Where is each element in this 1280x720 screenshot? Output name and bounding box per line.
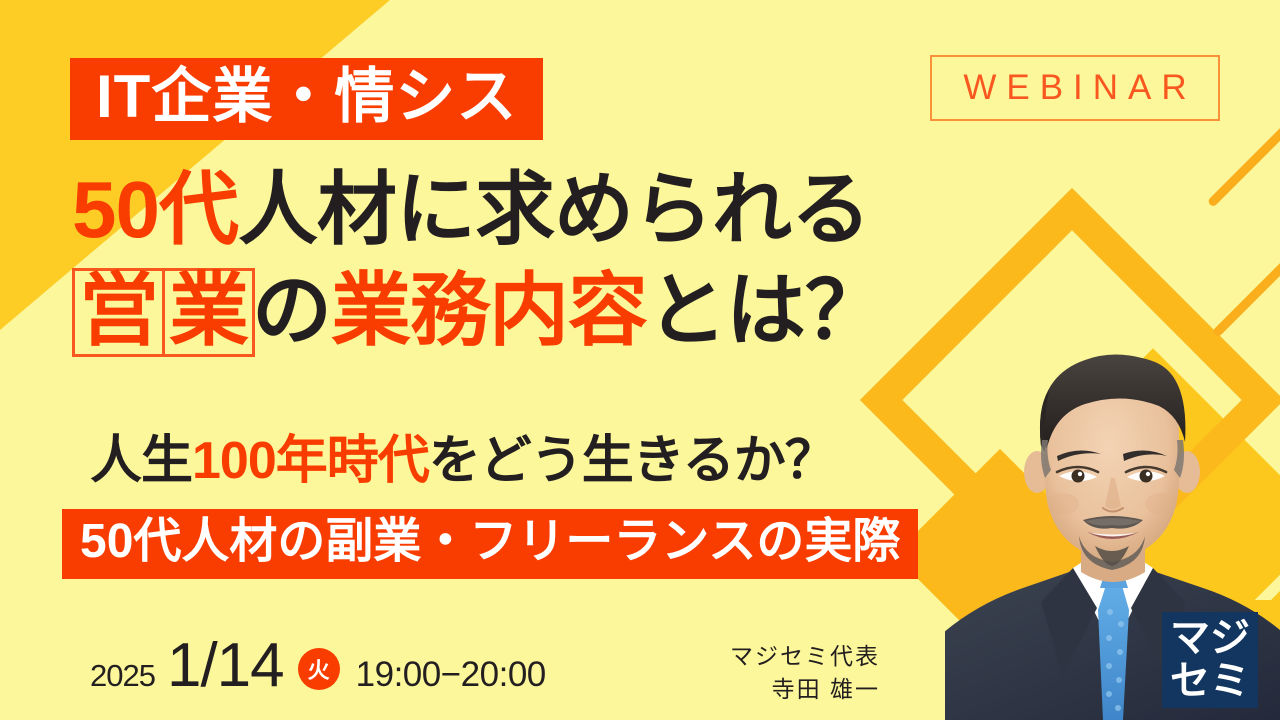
- highlight-bar: 50代人材の副業・フリーランスの実際: [62, 509, 918, 579]
- schedule-day-of-week-badge: 火: [298, 648, 340, 690]
- schedule-year: 2025: [90, 658, 155, 694]
- headline-line-1: 50代人材に求められる: [72, 170, 884, 250]
- majisemi-logo: マジ セミ: [1162, 612, 1258, 708]
- subtitle-part-2: をどう生きるか？: [429, 432, 836, 490]
- logo-line-1: マジ: [1170, 617, 1250, 660]
- subtitle: 人生100年時代をどう生きるか？: [90, 435, 836, 487]
- subtitle-part-1: 人生: [90, 432, 192, 490]
- speaker-name: 寺田 雄一: [640, 673, 880, 706]
- headline-line2-particle: の: [252, 266, 331, 355]
- headline-line-2: 営業の業務内容とは？: [72, 268, 884, 357]
- headline-line1-rest: 人材に求められる: [238, 165, 870, 254]
- schedule-row: 2025 1/14 火 19:00−20:00: [90, 630, 546, 701]
- schedule-time: 19:00−20:00: [356, 655, 546, 695]
- speaker-info: マジセミ代表 寺田 雄一: [640, 640, 880, 707]
- subtitle-highlight: 100年時代: [192, 432, 429, 490]
- headline: 50代人材に求められる 営業の業務内容とは？: [72, 170, 884, 357]
- schedule-date: 1/14: [167, 630, 284, 701]
- headline-boxed-char-1: 営: [72, 268, 165, 357]
- speaker-title: マジセミ代表: [640, 640, 880, 673]
- headline-line2-highlight: 業務内容: [331, 266, 647, 355]
- category-badge: IT企業・情シス: [70, 58, 543, 140]
- diagonal-accent-line-bottom: [1212, 183, 1280, 338]
- logo-line-2: セミ: [1170, 660, 1250, 703]
- webinar-banner: IT企業・情シス WEBINAR 50代人材に求められる 営業の業務内容とは？ …: [0, 0, 1280, 720]
- headline-line2-rest: とは？: [647, 266, 884, 355]
- webinar-badge: WEBINAR: [930, 55, 1220, 121]
- headline-boxed-char-2: 業: [162, 268, 255, 357]
- headline-line1-highlight: 50代: [72, 165, 238, 254]
